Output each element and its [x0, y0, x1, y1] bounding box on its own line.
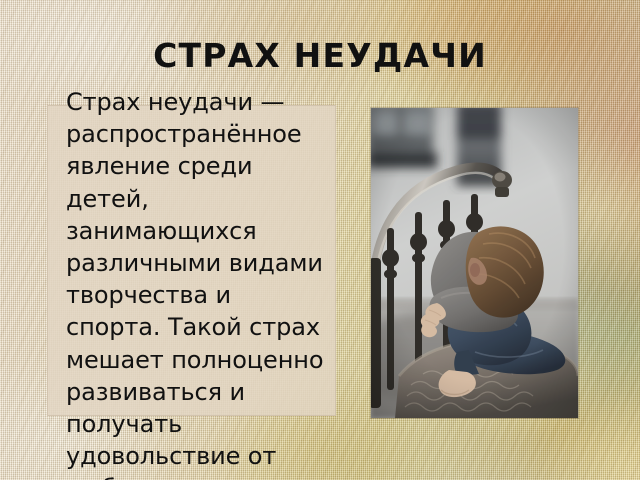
sad-child-on-bed-photo — [371, 108, 578, 418]
page-title: СТРАХ НЕУДАЧИ — [0, 36, 640, 76]
body-line: любимого дела. — [66, 474, 267, 480]
body-line: удовольствие от — [66, 442, 276, 470]
body-line: получать — [66, 410, 182, 438]
body-line: явление среди — [66, 152, 252, 180]
body-line: различными видами — [66, 249, 323, 277]
body-line: занимающихся — [66, 217, 257, 245]
body-line: Страх неудачи — — [66, 88, 284, 116]
body-line: творчества и — [66, 281, 231, 309]
body-line: мешает полноценно — [66, 346, 323, 374]
body-line: детей, — [66, 185, 149, 213]
body-line: развиваться и — [66, 378, 245, 406]
body-line: распространённое — [66, 120, 302, 148]
photo-illustration — [371, 108, 578, 418]
body-paragraph: Страх неудачи — распространённое явление… — [66, 86, 338, 480]
slide-canvas: СТРАХ НЕУДАЧИ Страх неудачи — распростра… — [0, 0, 640, 480]
body-line: спорта. Такой страх — [66, 313, 320, 341]
